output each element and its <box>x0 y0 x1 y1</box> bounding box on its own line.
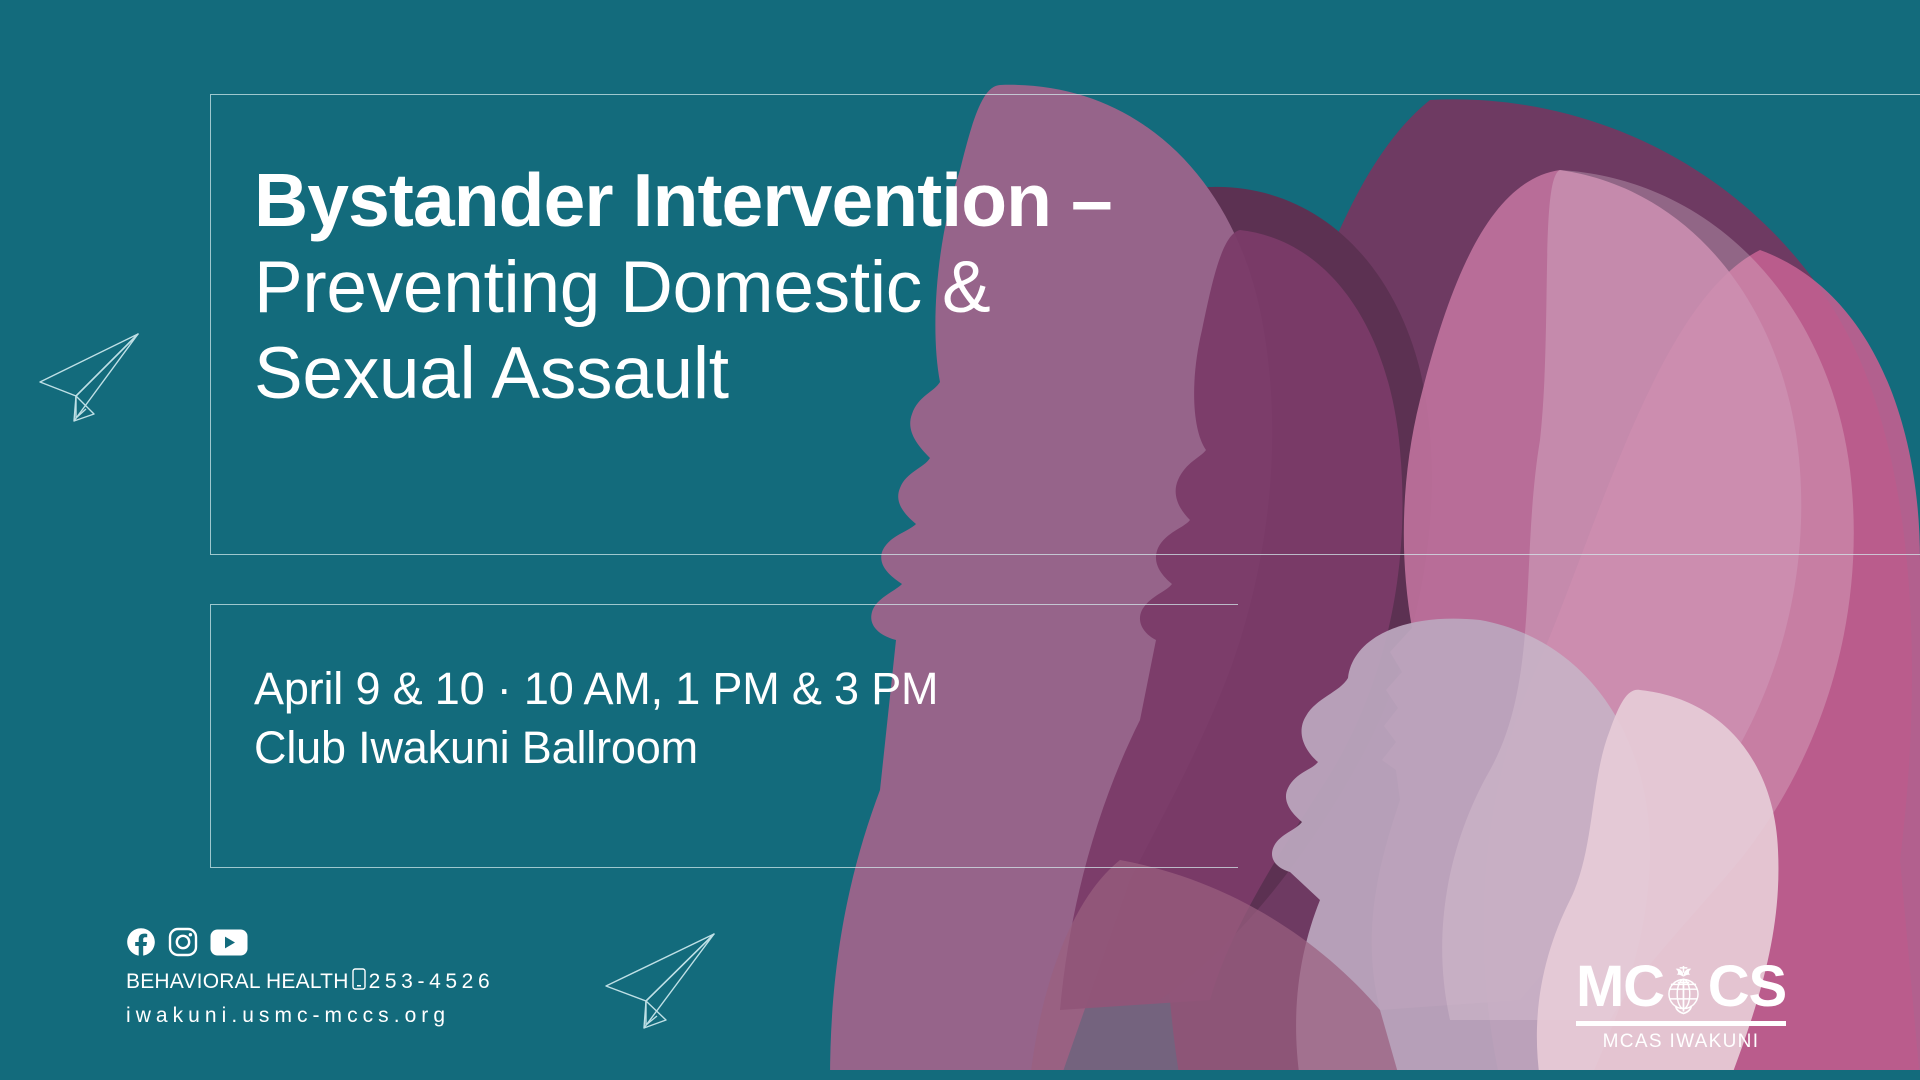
phone-number[interactable]: 253-4526 <box>369 970 495 994</box>
page-title: Bystander Intervention – Preventing Dome… <box>254 157 1112 416</box>
social-media-row <box>126 925 494 959</box>
mccs-wordmark-right: CS <box>1708 958 1786 1016</box>
facebook-icon[interactable] <box>126 927 156 957</box>
mobile-phone-icon <box>352 968 366 996</box>
youtube-icon[interactable] <box>210 929 248 956</box>
poster-canvas: Bystander Intervention – Preventing Dome… <box>0 0 1920 1080</box>
headline-line-3: Sexual Assault <box>254 331 1112 416</box>
event-datetime: April 9 & 10 · 10 AM, 1 PM & 3 PM <box>254 660 938 719</box>
headline-line-1: Bystander Intervention – <box>254 157 1112 245</box>
event-details: April 9 & 10 · 10 AM, 1 PM & 3 PM Club I… <box>254 660 938 778</box>
text-layer: Bystander Intervention – Preventing Dome… <box>0 0 1920 1080</box>
contact-phone-line: BEHAVIORAL HEALTH 253-4526 <box>126 968 494 996</box>
mccs-subtitle: MCAS IWAKUNI <box>1576 1031 1786 1053</box>
bottom-teal-strip <box>0 1070 1920 1080</box>
headline-line-2: Preventing Domestic & <box>254 245 1112 330</box>
mccs-wordmark: MC CS <box>1576 958 1786 1016</box>
footer-contact-block: BEHAVIORAL HEALTH 253-4526 iwakuni.usmc-… <box>126 925 494 1028</box>
website-url[interactable]: iwakuni.usmc-mccs.org <box>126 1004 494 1028</box>
instagram-icon[interactable] <box>168 927 198 957</box>
eagle-globe-anchor-icon <box>1652 957 1714 1019</box>
mccs-divider-rule <box>1576 1021 1786 1026</box>
event-location: Club Iwakuni Ballroom <box>254 719 938 778</box>
mccs-logo: MC CS MCAS IWAKUNI <box>1576 958 1786 1053</box>
mccs-wordmark-left: MC <box>1576 958 1664 1016</box>
behavioral-health-label: BEHAVIORAL HEALTH <box>126 970 349 994</box>
